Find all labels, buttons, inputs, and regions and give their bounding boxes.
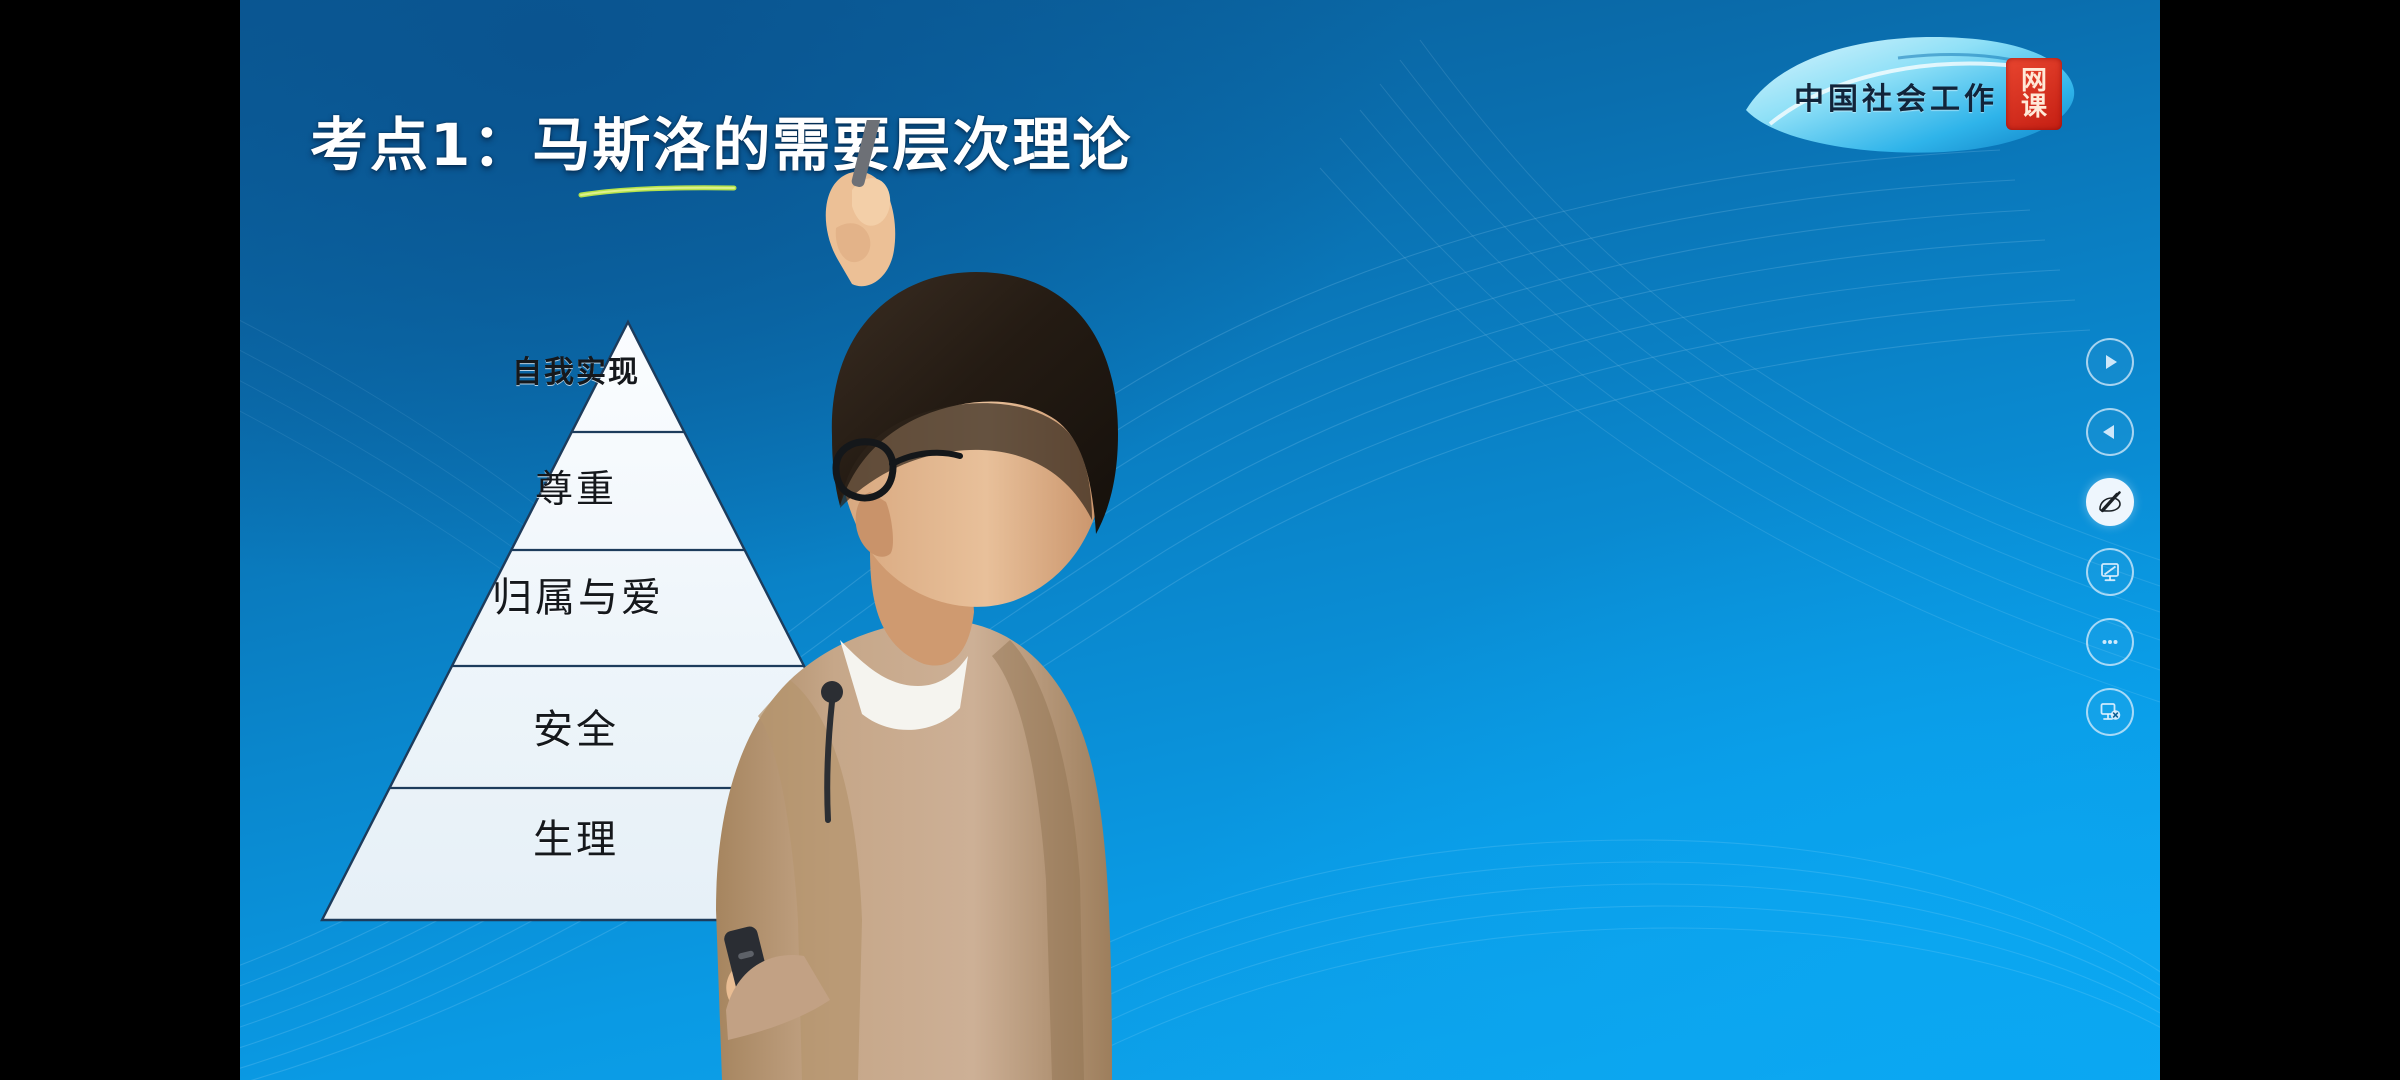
pyramid-level-label-self-actualization: 自我实现 bbox=[486, 356, 666, 390]
video-player-screen: 考点1：马斯洛的需要层次理论 bbox=[0, 0, 2400, 1080]
video-content-area[interactable]: 考点1：马斯洛的需要层次理论 bbox=[240, 0, 2160, 1080]
pyramid-level-label-safety: 安全 bbox=[446, 708, 706, 754]
logo-text: 中国社会工作 bbox=[1782, 74, 2010, 118]
logo-seal-line-2: 课 bbox=[2021, 94, 2047, 120]
pyramid-level-label-belonging-love: 归属与爱 bbox=[408, 576, 748, 622]
maslow-pyramid-diagram: 自我实现 尊重 归属与爱 安全 生理 bbox=[318, 318, 938, 928]
slide-title-block: 考点1：马斯洛的需要层次理论 bbox=[310, 98, 1410, 182]
pen-icon[interactable] bbox=[2086, 478, 2134, 526]
slide-grid-icon[interactable] bbox=[2086, 548, 2134, 596]
next-slide-icon[interactable] bbox=[2086, 338, 2134, 386]
logo-seal: 网 课 bbox=[2006, 58, 2062, 130]
letterbox-right bbox=[2160, 0, 2400, 1080]
pyramid-level-label-esteem: 尊重 bbox=[446, 468, 706, 511]
more-options-icon[interactable] bbox=[2086, 618, 2134, 666]
letterbox-left bbox=[0, 0, 240, 1080]
end-show-icon[interactable] bbox=[2086, 688, 2134, 736]
presentation-controls[interactable] bbox=[2086, 338, 2134, 736]
pyramid-level-label-physiological: 生理 bbox=[446, 818, 706, 864]
page-title: 考点1：马斯洛的需要层次理论 bbox=[310, 98, 1410, 182]
channel-logo: 中国社会工作 网 课 bbox=[1730, 28, 2080, 158]
previous-slide-icon[interactable] bbox=[2086, 408, 2134, 456]
logo-seal-line-1: 网 bbox=[2021, 68, 2047, 94]
